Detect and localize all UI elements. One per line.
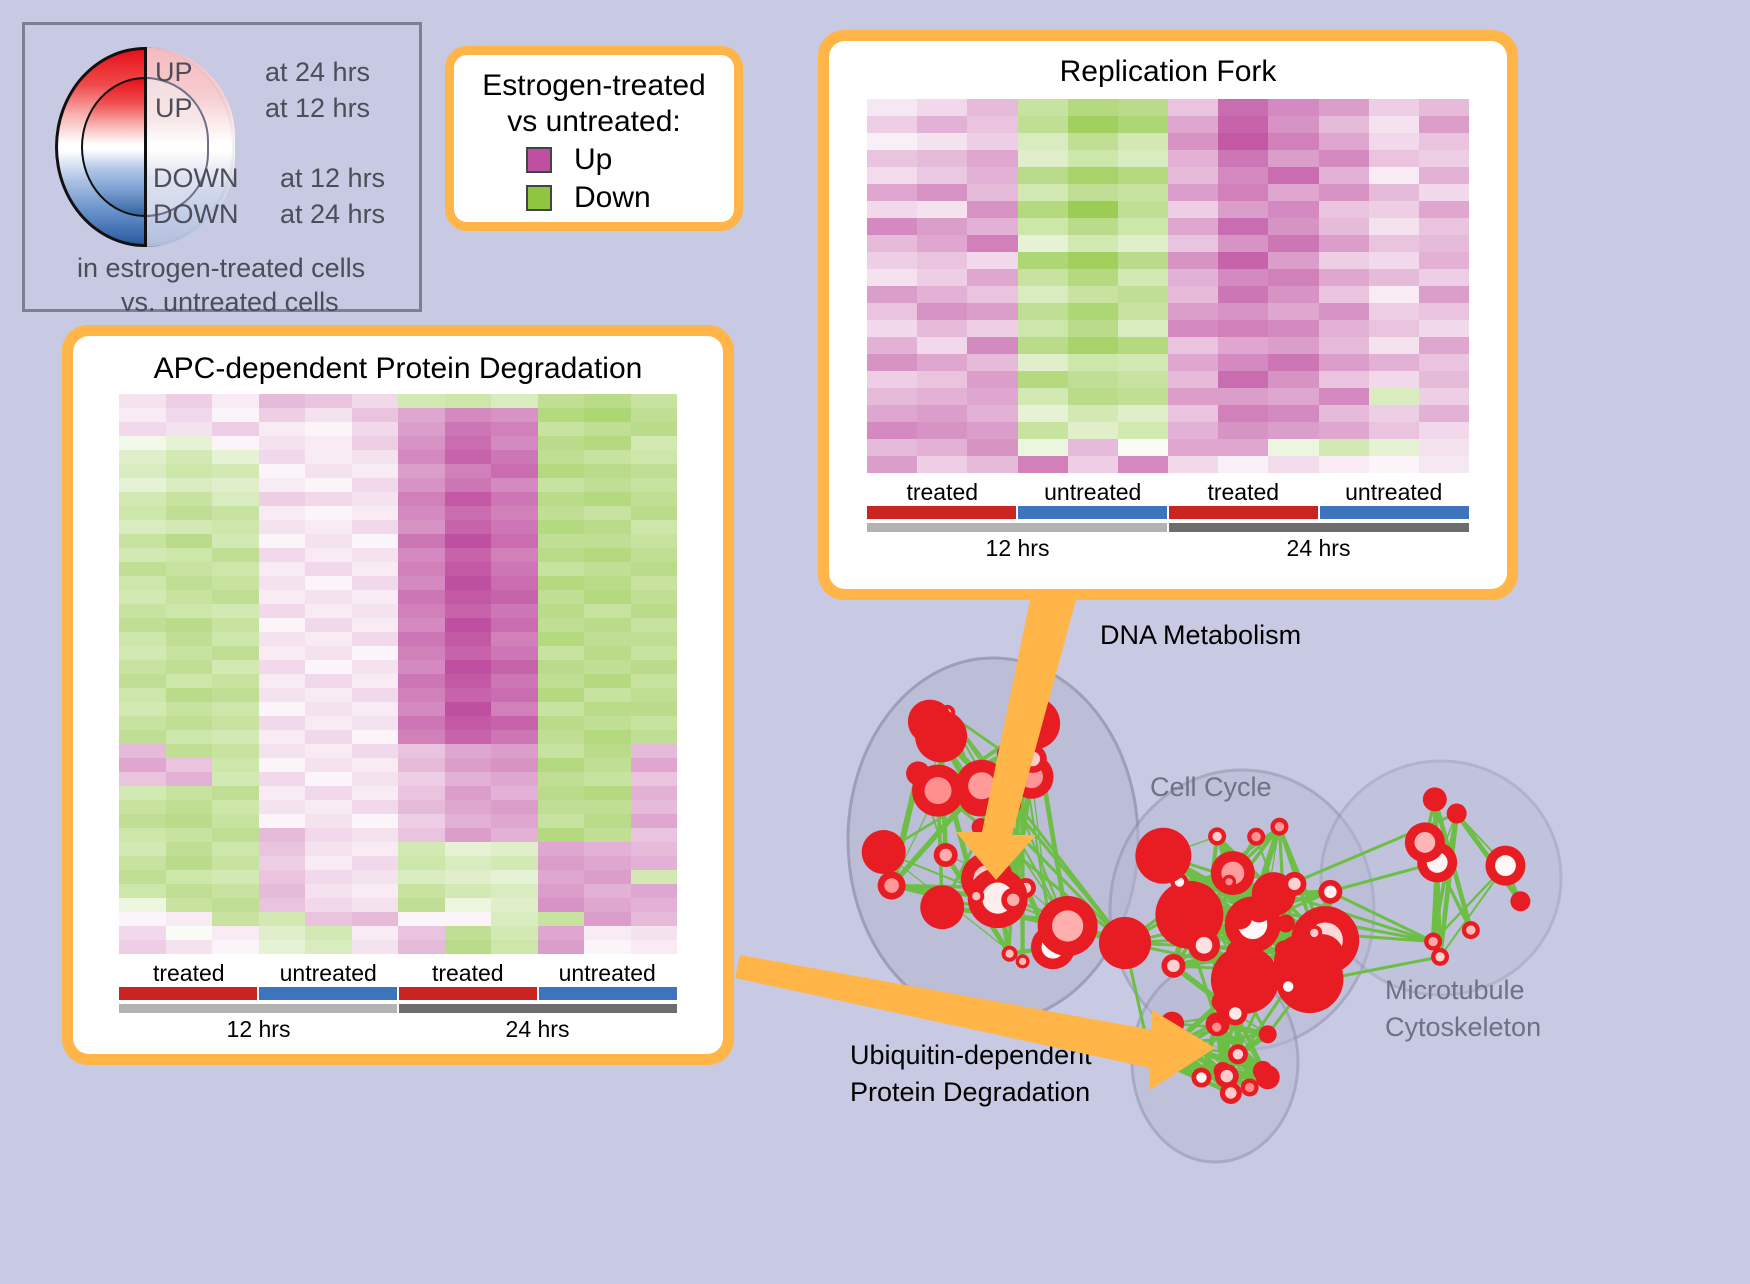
- heatmap-cell: [538, 534, 585, 548]
- heatmap-cell: [305, 828, 352, 842]
- legend-up-24-label: UP: [155, 57, 193, 88]
- heatmap-cell: [1419, 133, 1469, 150]
- network-node[interactable]: [934, 843, 958, 867]
- heatmap-cell: [259, 562, 306, 576]
- heatmap-cell: [259, 422, 306, 436]
- heatmap-cell: [166, 870, 213, 884]
- heatmap-cell: [584, 674, 631, 688]
- heatmap-cell: [538, 604, 585, 618]
- heatmap-cell: [445, 856, 492, 870]
- legend-footer-line1: in estrogen-treated cells: [77, 253, 365, 284]
- heatmap-cell: [1218, 201, 1268, 218]
- network-node[interactable]: [1228, 1044, 1248, 1064]
- heatmap-cell: [1068, 184, 1118, 201]
- heatmap-cell: [1018, 99, 1068, 116]
- heatmap-cell: [1419, 184, 1469, 201]
- heatmap-cell: [1068, 388, 1118, 405]
- heatmap-cell: [1068, 354, 1118, 371]
- heatmap-cell: [917, 150, 967, 167]
- heatmap-cell: [1419, 388, 1469, 405]
- heatmap-cell: [867, 303, 917, 320]
- heatmap-cell: [584, 940, 631, 954]
- heatmap-cell: [166, 884, 213, 898]
- heatmap-cell: [538, 576, 585, 590]
- heatmap-cell: [1168, 456, 1218, 473]
- heatmap-cell: [1218, 388, 1268, 405]
- heatmap-cell: [584, 772, 631, 786]
- heatmap-cell: [166, 772, 213, 786]
- heatmap-cell: [538, 450, 585, 464]
- heatmap-cell: [166, 800, 213, 814]
- heatmap-cell: [212, 688, 259, 702]
- heatmap-cell: [398, 506, 445, 520]
- heatmap-cell: [352, 562, 399, 576]
- heatmap-cell: [538, 870, 585, 884]
- cluster-label-cell-cycle: Cell Cycle: [1150, 772, 1272, 803]
- network-node[interactable]: [1016, 954, 1030, 968]
- heatmap-cell: [212, 674, 259, 688]
- heatmap-cell: [445, 422, 492, 436]
- heatmap-cell: [867, 422, 917, 439]
- heatmap-cell: [538, 940, 585, 954]
- network-node[interactable]: [1431, 948, 1449, 966]
- heatmap-cell: [538, 590, 585, 604]
- heatmap-cell: [445, 898, 492, 912]
- network-node[interactable]: [915, 710, 967, 762]
- network-node[interactable]: [956, 760, 1008, 812]
- heatmap-cell: [398, 856, 445, 870]
- heatmap-cell: [967, 252, 1017, 269]
- heatmap-cell: [631, 912, 678, 926]
- heatmap-cell: [212, 422, 259, 436]
- heatmap-cell: [352, 450, 399, 464]
- heatmap-cell: [1218, 116, 1268, 133]
- heatmap-cell: [1118, 150, 1168, 167]
- network-node[interactable]: [862, 830, 906, 874]
- heatmap-cell: [212, 772, 259, 786]
- treatment-color-bar: [399, 987, 539, 1000]
- heatmap-cell: [259, 534, 306, 548]
- heatmap-cell: [1319, 456, 1369, 473]
- network-node[interactable]: [1223, 1001, 1247, 1025]
- heatmap-cell: [1369, 405, 1419, 422]
- heatmap-cell: [631, 926, 678, 940]
- heatmap-cell: [259, 450, 306, 464]
- heatmap-cell: [491, 842, 538, 856]
- estrogen-legend-inner: Estrogen-treated vs untreated: Up Down: [454, 55, 734, 222]
- heatmap-cell: [538, 394, 585, 408]
- heatmap-cell: [305, 800, 352, 814]
- heatmap-cell: [1268, 439, 1318, 456]
- network-node[interactable]: [1188, 929, 1220, 961]
- heatmap-cell: [445, 492, 492, 506]
- heatmap-cell: [538, 772, 585, 786]
- heatmap-cell: [1168, 405, 1218, 422]
- heatmap-cell: [445, 408, 492, 422]
- heatmap-cell: [1218, 371, 1268, 388]
- heatmap-cell: [917, 405, 967, 422]
- heatmap-cell: [1018, 201, 1068, 218]
- heatmap-cell: [305, 408, 352, 422]
- heatmap-cell: [584, 408, 631, 422]
- heatmap-cell: [212, 562, 259, 576]
- network-node[interactable]: [1485, 846, 1525, 886]
- heatmap-cell: [1319, 167, 1369, 184]
- heatmap-cell: [259, 660, 306, 674]
- heatmap-cell: [584, 870, 631, 884]
- heatmap-cell: [212, 828, 259, 842]
- heatmap-cell: [398, 590, 445, 604]
- heatmap-cell: [491, 884, 538, 898]
- heatmap-cell: [1268, 201, 1318, 218]
- heatmap-cell: [212, 898, 259, 912]
- heatmap-cell: [1218, 405, 1268, 422]
- heatmap-cell: [352, 604, 399, 618]
- heatmap-cell: [445, 660, 492, 674]
- heatmap-cell: [1168, 286, 1218, 303]
- heatmap-cell: [1319, 303, 1369, 320]
- heatmap-cell: [631, 702, 678, 716]
- heatmap-cell: [445, 576, 492, 590]
- heatmap-cell: [584, 758, 631, 772]
- heatmap-cell: [259, 898, 306, 912]
- network-node[interactable]: [972, 818, 990, 836]
- heatmap-cell: [398, 464, 445, 478]
- heatmap-cell: [445, 828, 492, 842]
- heatmap-cell: [1268, 184, 1318, 201]
- heatmap-cell: [305, 870, 352, 884]
- heatmap-cell: [917, 116, 967, 133]
- time-bar-rf: [867, 523, 1469, 532]
- heatmap-cell: [259, 842, 306, 856]
- heatmap-cell: [1419, 371, 1469, 388]
- heatmap-cell: [584, 702, 631, 716]
- heatmap-cell: [867, 201, 917, 218]
- heatmap-cell: [1419, 303, 1469, 320]
- heatmap-cell: [1068, 456, 1118, 473]
- heatmap-cell: [305, 688, 352, 702]
- heatmap-cell: [398, 884, 445, 898]
- heatmap-cell: [538, 912, 585, 926]
- heatmap-cell: [445, 450, 492, 464]
- network-node[interactable]: [1423, 787, 1447, 811]
- network-node[interactable]: [968, 888, 984, 904]
- circle-split-line: [144, 47, 147, 247]
- heatmap-cell: [445, 520, 492, 534]
- heatmap-cell: [867, 150, 917, 167]
- heatmap-cell: [398, 800, 445, 814]
- heatmap-cell: [305, 884, 352, 898]
- heatmap-cell: [538, 800, 585, 814]
- network-node[interactable]: [1160, 1012, 1184, 1036]
- heatmap-cell: [166, 898, 213, 912]
- network-node[interactable]: [1306, 925, 1322, 941]
- heatmap-cell: [491, 758, 538, 772]
- heatmap-cell: [1268, 422, 1318, 439]
- network-node[interactable]: [1278, 977, 1298, 997]
- heatmap-cell: [259, 436, 306, 450]
- heatmap-cell: [445, 394, 492, 408]
- heatmap-cell: [867, 456, 917, 473]
- heatmap-cell: [119, 534, 166, 548]
- network-node[interactable]: [1405, 822, 1445, 862]
- heatmap-cell: [967, 303, 1017, 320]
- heatmap-cell: [259, 506, 306, 520]
- network-node[interactable]: [1161, 954, 1185, 978]
- heatmap-cell: [631, 632, 678, 646]
- heatmap-cell: [1319, 235, 1369, 252]
- heatmap-cell: [119, 506, 166, 520]
- heatmap-cell: [491, 646, 538, 660]
- heatmap-cell: [1168, 116, 1218, 133]
- heatmap-cell: [1268, 150, 1318, 167]
- heatmap-cell: [1419, 116, 1469, 133]
- panel-replication-fork: Replication Fork treateduntreatedtreated…: [818, 30, 1518, 600]
- network-node[interactable]: [1462, 921, 1480, 939]
- network-node[interactable]: [1247, 899, 1271, 923]
- heatmap-cell: [166, 646, 213, 660]
- heatmap-cell: [917, 133, 967, 150]
- heatmap-cell: [1068, 201, 1118, 218]
- heatmap-cell: [305, 506, 352, 520]
- network-node[interactable]: [1424, 933, 1442, 951]
- network-node[interactable]: [1135, 828, 1191, 884]
- heatmap-cell: [1168, 320, 1218, 337]
- heatmap-cell: [1118, 354, 1168, 371]
- heatmap-cell: [538, 744, 585, 758]
- heatmap-cell: [1168, 439, 1218, 456]
- heatmap-cell: [212, 884, 259, 898]
- heatmap-cell: [967, 320, 1017, 337]
- heatmap-cell: [166, 520, 213, 534]
- network-node[interactable]: [1191, 1068, 1211, 1088]
- heatmap-cell: [491, 912, 538, 926]
- heatmap-cell: [584, 898, 631, 912]
- heatmap-cell: [1369, 116, 1419, 133]
- heatmap-cell: [119, 898, 166, 912]
- heatmap-cell: [584, 856, 631, 870]
- heatmap-cell: [166, 814, 213, 828]
- heatmap-cell: [1319, 422, 1369, 439]
- network-node[interactable]: [1208, 827, 1226, 845]
- heatmap-cell: [398, 842, 445, 856]
- network-node[interactable]: [1318, 880, 1342, 904]
- heatmap-cell: [1118, 269, 1168, 286]
- heatmap-cell: [352, 940, 399, 954]
- network-node[interactable]: [1277, 914, 1295, 932]
- heatmap-cell: [305, 548, 352, 562]
- network-node[interactable]: [1282, 872, 1306, 896]
- network-node[interactable]: [1184, 884, 1216, 916]
- network-node[interactable]: [1001, 888, 1025, 912]
- heatmap-cell: [259, 702, 306, 716]
- heatmap-cell: [1168, 150, 1218, 167]
- heatmap-cell: [538, 674, 585, 688]
- network-node[interactable]: [1019, 745, 1047, 773]
- network-node[interactable]: [1002, 946, 1018, 962]
- heatmap-cell: [1218, 320, 1268, 337]
- heatmap-cell: [631, 506, 678, 520]
- heatmap-cell: [584, 422, 631, 436]
- heatmap-cell: [491, 716, 538, 730]
- heatmap-cell: [352, 814, 399, 828]
- heatmap-cell: [352, 632, 399, 646]
- heatmap-cell: [352, 506, 399, 520]
- heatmap-cell: [1419, 354, 1469, 371]
- heatmap-cell: [445, 926, 492, 940]
- heatmap-cell: [305, 674, 352, 688]
- heatmap-cell: [1268, 218, 1318, 235]
- time-labels-rf: 12 hrs24 hrs: [867, 535, 1469, 562]
- heatmap-cell: [491, 870, 538, 884]
- heatmap-cell: [398, 730, 445, 744]
- heatmap-cell: [398, 814, 445, 828]
- heatmap-replication-fork: [867, 99, 1469, 473]
- heatmap-cell: [1168, 303, 1218, 320]
- heatmap-cell: [1218, 133, 1268, 150]
- heatmap-cell: [166, 744, 213, 758]
- network-node[interactable]: [1222, 875, 1236, 889]
- heatmap-cell: [119, 464, 166, 478]
- network-node[interactable]: [920, 885, 964, 929]
- heatmap-cell: [398, 702, 445, 716]
- heatmap-cell: [584, 520, 631, 534]
- heatmap-cell: [1218, 235, 1268, 252]
- heatmap-cell: [352, 870, 399, 884]
- heatmap-cell: [1268, 405, 1318, 422]
- network-node[interactable]: [1259, 1025, 1277, 1043]
- heatmap-cell: [212, 464, 259, 478]
- heatmap-cell: [1068, 286, 1118, 303]
- treatment-label: untreated: [1018, 479, 1169, 506]
- network-node[interactable]: [1510, 891, 1530, 911]
- heatmap-cell: [352, 576, 399, 590]
- heatmap-cell: [352, 842, 399, 856]
- heatmap-cell: [398, 492, 445, 506]
- down-swatch-icon: [526, 185, 552, 211]
- heatmap-cell: [352, 758, 399, 772]
- cluster-label-microtubule-line2: Cytoskeleton: [1385, 1012, 1541, 1043]
- heatmap-cell: [1018, 286, 1068, 303]
- heatmap-cell: [867, 286, 917, 303]
- cluster-label-ubiquitin-line2: Protein Degradation: [850, 1077, 1090, 1108]
- heatmap-cell: [584, 660, 631, 674]
- heatmap-cell: [1018, 116, 1068, 133]
- heatmap-cell: [166, 618, 213, 632]
- heatmap-cell: [1068, 252, 1118, 269]
- heatmap-cell: [1018, 337, 1068, 354]
- heatmap-cell: [584, 828, 631, 842]
- heatmap-cell: [1168, 252, 1218, 269]
- heatmap-cell: [445, 912, 492, 926]
- heatmap-cell: [445, 758, 492, 772]
- heatmap-cell: [352, 646, 399, 660]
- network-node[interactable]: [1247, 828, 1265, 846]
- heatmap-cell: [584, 436, 631, 450]
- legend-down-12-label: DOWN: [153, 163, 238, 194]
- heatmap-cell: [445, 562, 492, 576]
- heatmap-cell: [631, 856, 678, 870]
- heatmap-cell: [259, 870, 306, 884]
- heatmap-cell: [491, 926, 538, 940]
- heatmap-cell: [538, 786, 585, 800]
- heatmap-cell: [867, 167, 917, 184]
- heatmap-cell: [491, 786, 538, 800]
- network-node[interactable]: [1139, 1044, 1161, 1066]
- treatment-bar-apc: [119, 987, 677, 1000]
- network-node[interactable]: [1038, 896, 1098, 956]
- heatmap-cell: [212, 632, 259, 646]
- heatmap-cell: [119, 394, 166, 408]
- heatmap-cell: [119, 758, 166, 772]
- heatmap-cell: [166, 534, 213, 548]
- network-node[interactable]: [1211, 851, 1255, 895]
- heatmap-cell: [1018, 456, 1068, 473]
- heatmap-cell: [212, 800, 259, 814]
- treatment-label: treated: [119, 960, 259, 987]
- network-node[interactable]: [1208, 1018, 1226, 1036]
- network-node[interactable]: [1256, 1065, 1280, 1089]
- heatmap-cell: [259, 632, 306, 646]
- network-node[interactable]: [1220, 1082, 1242, 1104]
- estrogen-legend-line1: Estrogen-treated: [454, 69, 734, 103]
- heatmap-cell: [305, 786, 352, 800]
- heatmap-cell: [631, 520, 678, 534]
- heatmap-cell: [631, 870, 678, 884]
- network-node[interactable]: [1241, 1078, 1259, 1096]
- heatmap-cell: [917, 439, 967, 456]
- heatmap-cell: [584, 716, 631, 730]
- heatmap-cell: [119, 604, 166, 618]
- time-label: 24 hrs: [1168, 535, 1469, 562]
- network-node[interactable]: [1099, 917, 1151, 969]
- heatmap-cell: [212, 646, 259, 660]
- heatmap-cell: [1369, 201, 1419, 218]
- heatmap-cell: [119, 688, 166, 702]
- heatmap-cell: [166, 422, 213, 436]
- heatmap-cell: [166, 548, 213, 562]
- network-node[interactable]: [1270, 818, 1288, 836]
- heatmap-cell: [584, 576, 631, 590]
- heatmap-cell: [491, 688, 538, 702]
- heatmap-cell: [1319, 99, 1369, 116]
- network-node[interactable]: [1447, 804, 1467, 824]
- heatmap-cell: [917, 456, 967, 473]
- heatmap-cell: [352, 478, 399, 492]
- network-node[interactable]: [878, 872, 906, 900]
- heatmap-cell: [1118, 252, 1168, 269]
- legend-at-down-12-label: at 12 hrs: [280, 163, 385, 194]
- heatmap-cell: [259, 492, 306, 506]
- treatment-color-bar: [1018, 506, 1169, 519]
- heatmap-cell: [1168, 218, 1218, 235]
- heatmap-cell: [305, 940, 352, 954]
- legend-at-24-label: at 24 hrs: [265, 57, 370, 88]
- heatmap-cell: [352, 674, 399, 688]
- heatmap-cell: [1419, 201, 1469, 218]
- heatmap-cell: [1118, 405, 1168, 422]
- heatmap-cell: [584, 688, 631, 702]
- heatmap-cell: [305, 562, 352, 576]
- heatmap-cell: [119, 436, 166, 450]
- heatmap-cell: [631, 884, 678, 898]
- heatmap-cell: [305, 856, 352, 870]
- heatmap-cell: [445, 814, 492, 828]
- heatmap-cell: [867, 354, 917, 371]
- heatmap-cell: [1018, 422, 1068, 439]
- heatmap-cell: [352, 926, 399, 940]
- heatmap-cell: [917, 201, 967, 218]
